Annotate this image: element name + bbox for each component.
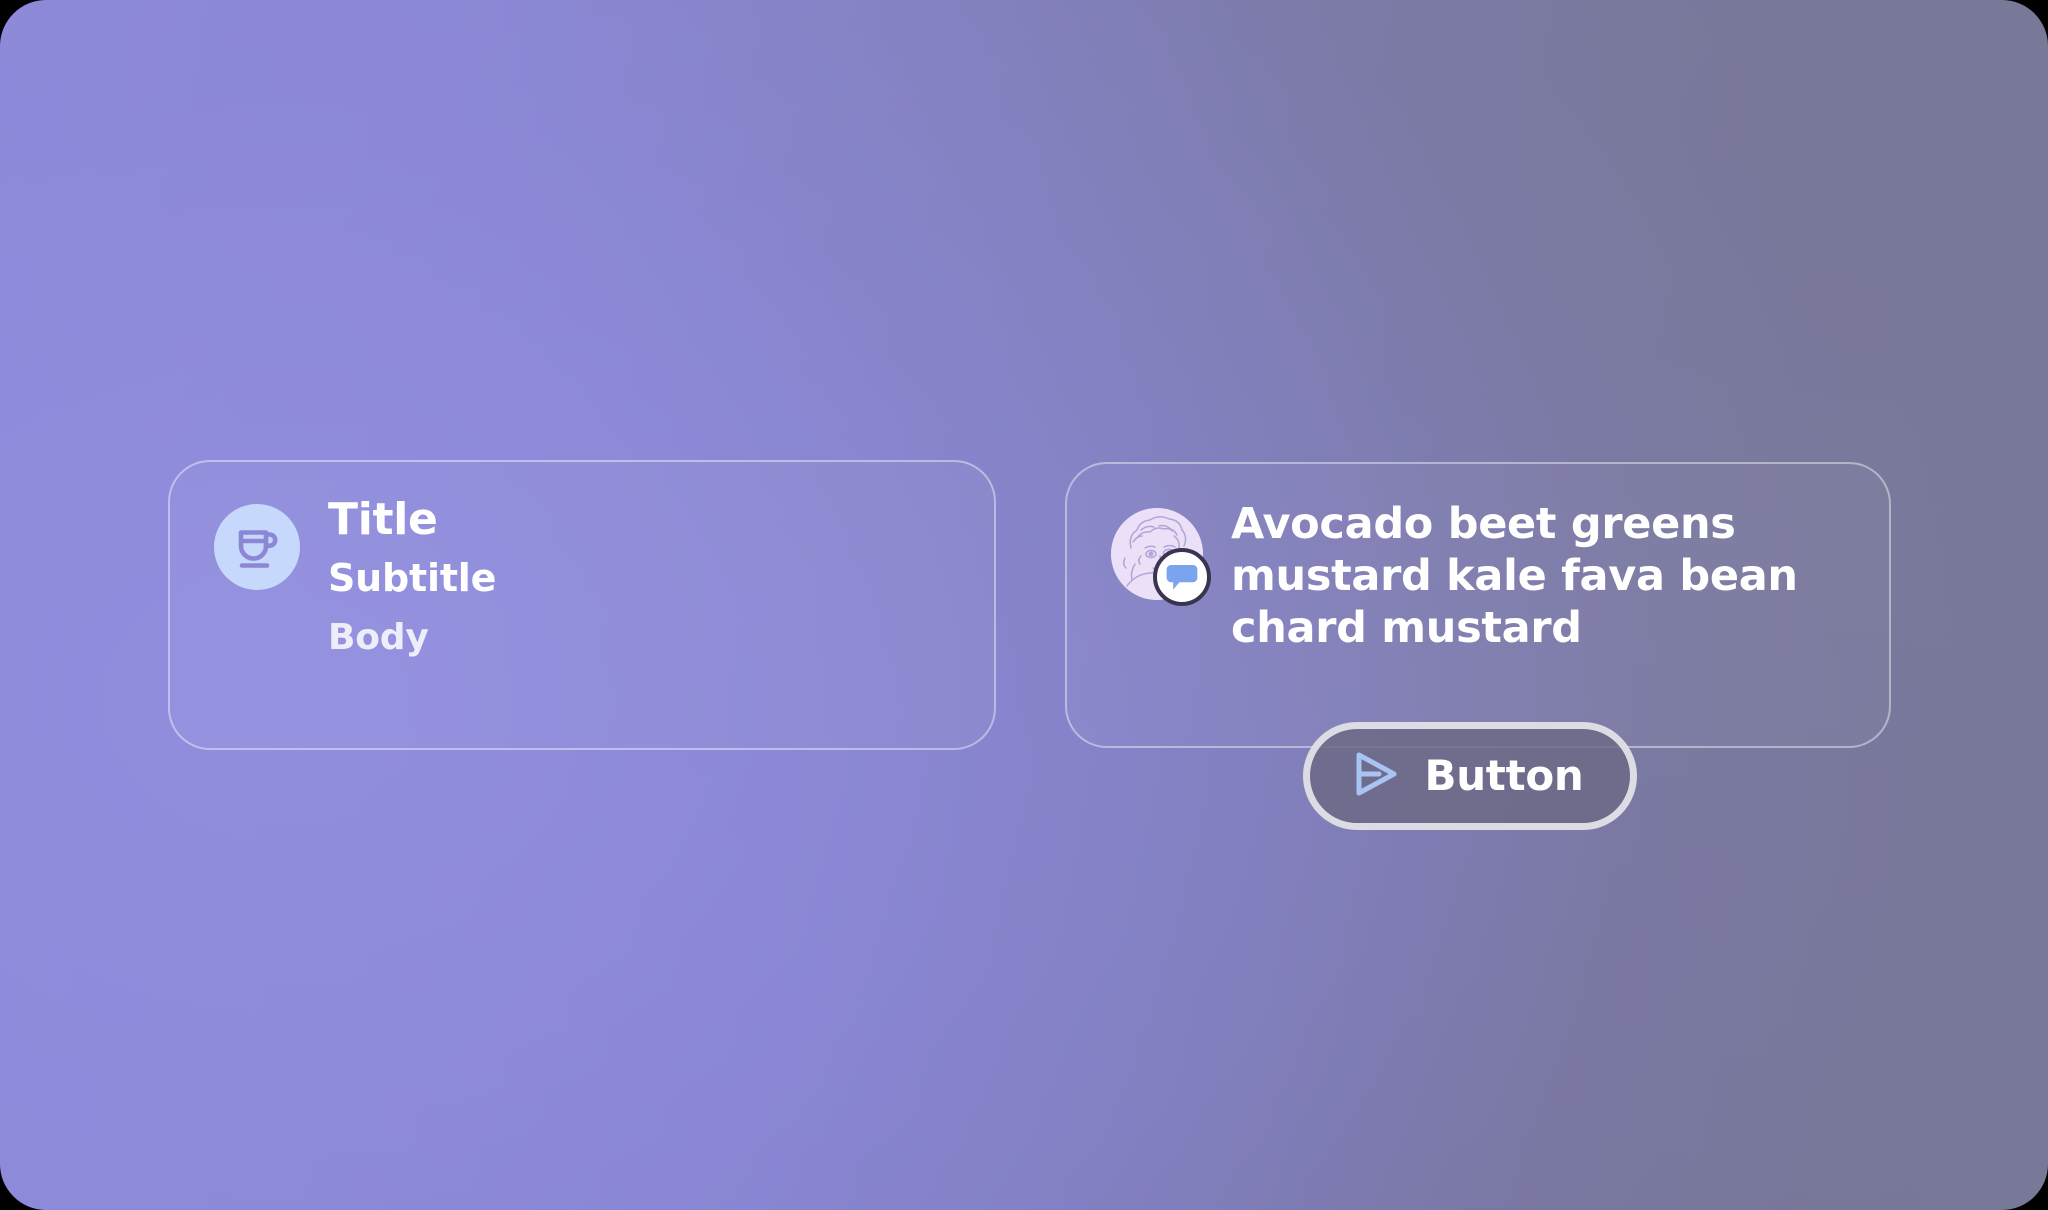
app-canvas: Title Subtitle Body (0, 0, 2048, 1210)
send-button[interactable]: Button (1303, 722, 1637, 830)
card-right-content: Avocado beet greens mustard kale fava be… (1067, 464, 1889, 746)
avatar[interactable] (1111, 508, 1203, 600)
card-left-content: Title Subtitle Body (170, 462, 994, 748)
card-subtitle: Subtitle (328, 559, 496, 599)
send-icon (1348, 747, 1402, 805)
card-title: Title (328, 498, 496, 543)
info-card-left[interactable]: Title Subtitle Body (168, 460, 996, 750)
message-card-right[interactable]: Avocado beet greens mustard kale fava be… (1065, 462, 1891, 748)
send-button-label: Button (1424, 755, 1583, 797)
speech-bubble-badge (1153, 548, 1211, 606)
coffee-cup-icon (214, 504, 300, 590)
card-left-text-stack: Title Subtitle Body (328, 502, 496, 657)
card-body: Body (328, 619, 496, 657)
card-message: Avocado beet greens mustard kale fava be… (1231, 498, 1851, 654)
